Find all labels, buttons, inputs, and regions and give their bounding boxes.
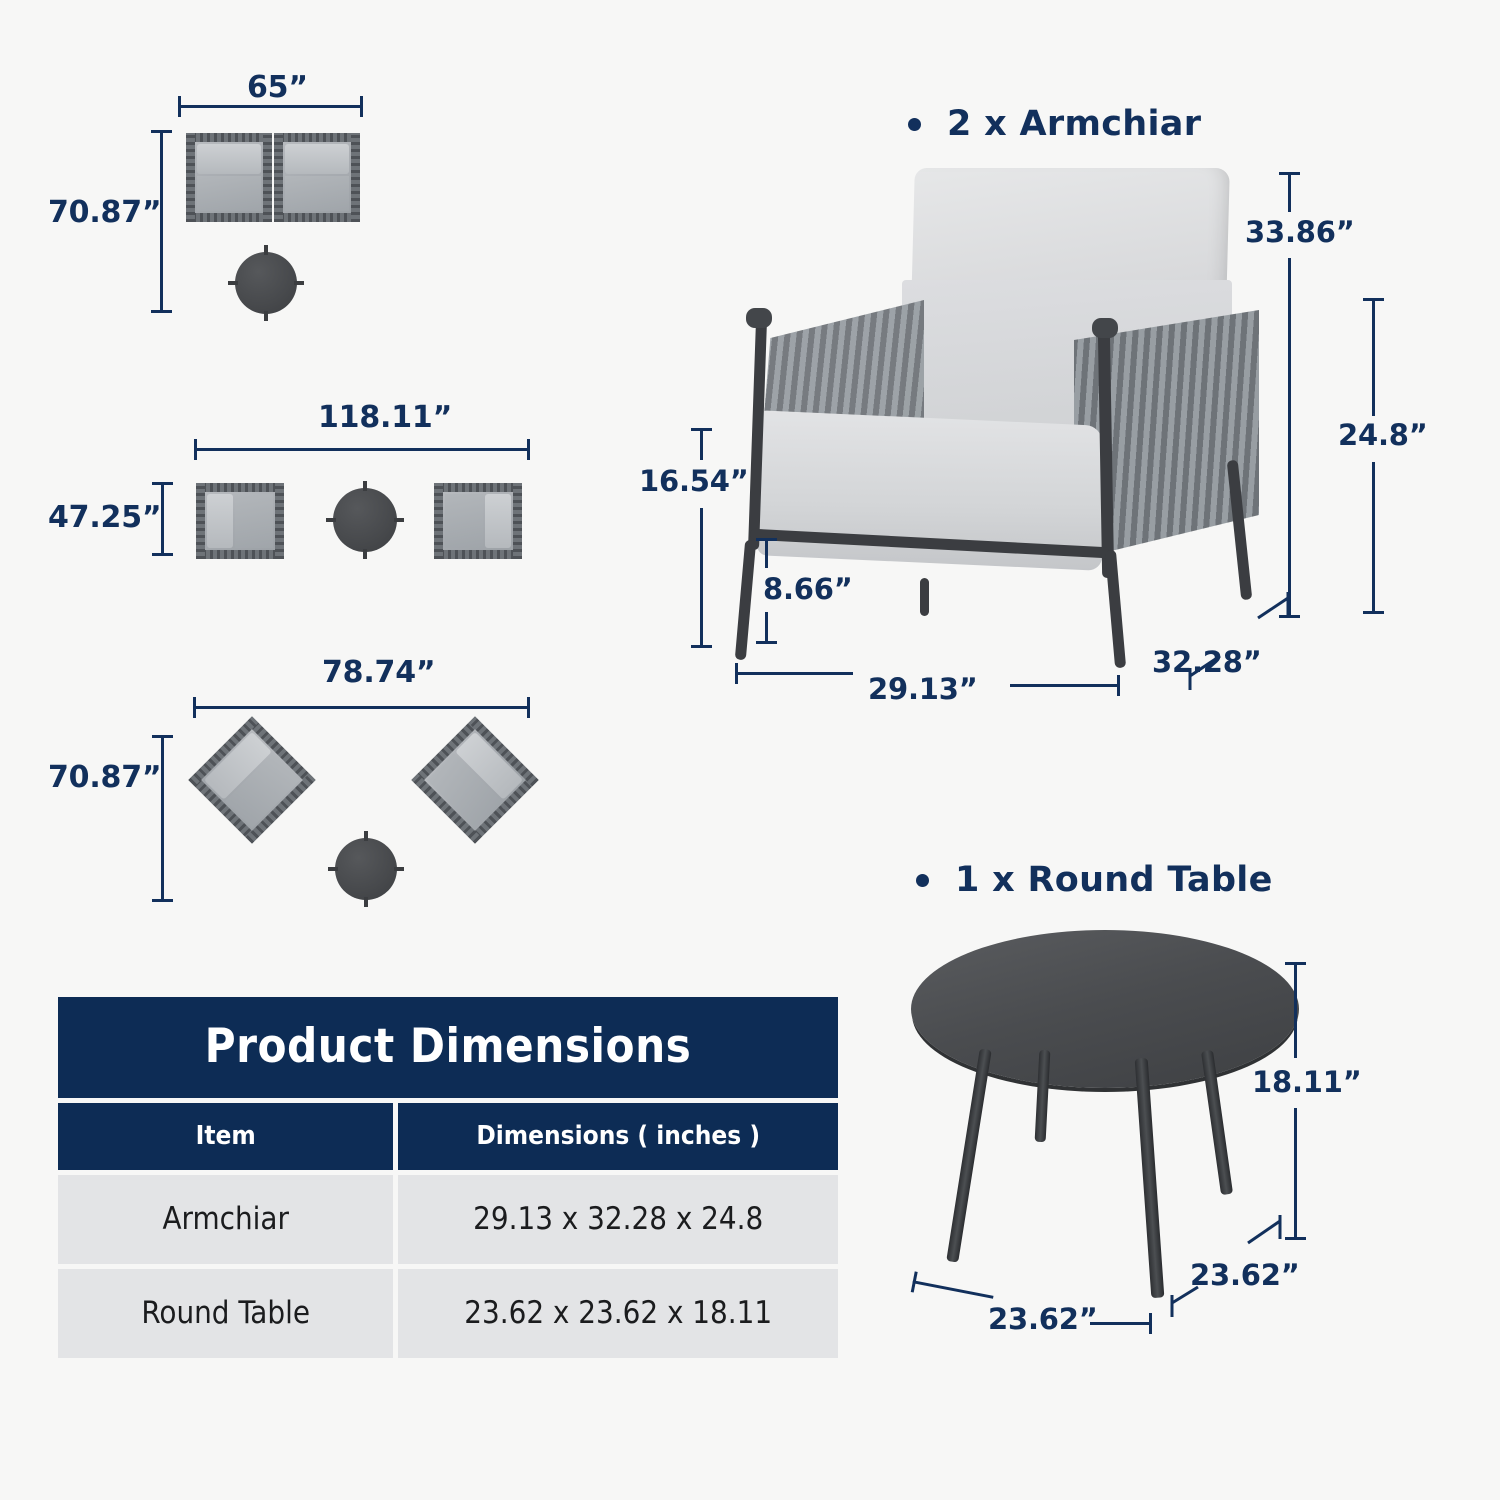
armchair-seat-height-line-bottom	[700, 508, 703, 648]
round-table-leg-front-left	[946, 1048, 991, 1262]
round-table-width-label: 23.62”	[988, 1302, 1098, 1336]
armchair-arm-height-line-top	[1372, 298, 1375, 416]
cell-item-name: Armchiar	[58, 1175, 393, 1264]
chair-rope-bottom	[434, 550, 522, 559]
armchair-arm-cap-right	[1092, 318, 1118, 338]
chair-back-cushion	[285, 144, 349, 174]
table-leg-bottom	[264, 311, 268, 321]
cell-item-name: Round Table	[58, 1269, 393, 1358]
chair-seat	[445, 494, 483, 548]
layout3-width-line	[193, 706, 530, 709]
table-row: Round Table 23.62 x 23.62 x 18.11	[58, 1269, 838, 1358]
table-leg-left	[326, 518, 336, 522]
chair-rope-right	[351, 133, 360, 222]
layout3-depth-line	[161, 735, 164, 902]
round-table-height-line-top	[1294, 962, 1297, 1058]
table-leg-top	[363, 481, 367, 491]
table-title: Product Dimensions	[58, 997, 838, 1098]
table-top	[235, 252, 297, 314]
armchair-width-label: 29.13”	[868, 672, 978, 706]
chair-rope-bottom	[196, 550, 284, 559]
layout3-chair-left	[188, 716, 315, 843]
layout1-table	[235, 252, 297, 314]
armchair-arm-height-line-bottom	[1372, 462, 1375, 614]
round-table-section-heading: 1 x Round Table	[916, 860, 1273, 900]
table-top	[333, 488, 397, 552]
layout3-depth-label: 70.87”	[48, 760, 161, 795]
chair-seat	[197, 176, 261, 211]
chair-back-cushion	[207, 494, 233, 548]
layout1-depth-line	[160, 130, 163, 313]
chair-back-cushion	[485, 494, 511, 548]
layout1-width-line	[178, 105, 363, 108]
armchair-arm-cap-left	[746, 308, 772, 328]
layout2-chair-left	[196, 483, 284, 559]
layout2-width-line	[194, 448, 530, 451]
table-leg-right	[394, 867, 404, 871]
chair-rope-top	[196, 483, 284, 492]
chair-rope-top	[274, 133, 360, 142]
chair-rope-right	[513, 483, 522, 559]
table-row: Armchiar 29.13 x 32.28 x 24.8	[58, 1175, 838, 1264]
chair-rope-bottom	[274, 213, 360, 222]
chair-rope-bottom	[186, 213, 272, 222]
layout1-chair-right	[274, 133, 360, 222]
layout2-depth-line	[161, 482, 164, 556]
column-header-dimensions: Dimensions ( inches )	[398, 1103, 838, 1170]
armchair-clearance-label: 8.66”	[763, 572, 853, 606]
chair-back-cushion	[197, 144, 261, 174]
round-table-height-label: 18.11”	[1252, 1065, 1362, 1099]
round-table-heading-label: 1 x Round Table	[955, 860, 1273, 900]
armchair-leg-center	[920, 578, 929, 616]
chair-rope-top	[186, 133, 272, 142]
layout2-chair-right	[434, 483, 522, 559]
cell-item-dimensions: 23.62 x 23.62 x 18.11	[398, 1269, 838, 1358]
table-leg-right	[394, 518, 404, 522]
column-header-item: Item	[58, 1103, 393, 1170]
table-leg-left	[228, 281, 238, 285]
chair-rope-left	[434, 483, 443, 559]
armchair-section-heading: 2 x Armchiar	[908, 104, 1201, 144]
table-leg-bottom	[364, 897, 368, 907]
table-leg-right	[294, 281, 304, 285]
armchair-back-height-line-bottom	[1288, 258, 1291, 618]
layout3-width-label: 78.74”	[322, 655, 435, 690]
table-leg-bottom	[363, 549, 367, 559]
chair-seat	[285, 176, 349, 211]
table-header-row: Item Dimensions ( inches )	[58, 1103, 838, 1170]
armchair-arm-height-label: 24.8”	[1338, 418, 1428, 452]
bullet-icon	[916, 874, 929, 887]
armchair-clearance-line-bottom	[765, 612, 768, 644]
layout2-width-label: 118.11”	[318, 400, 452, 435]
table-top	[335, 838, 397, 900]
round-table-depth-leader-lines	[1130, 1215, 1330, 1345]
cell-item-dimensions: 29.13 x 32.28 x 24.8	[398, 1175, 838, 1264]
armchair-clearance-line-top	[765, 538, 768, 568]
chair-rope-right	[263, 133, 272, 222]
table-leg-top	[264, 245, 268, 255]
chair-seat	[235, 494, 273, 548]
layout2-depth-label: 47.25”	[48, 500, 161, 535]
armchair-depth-leader-lines	[1130, 590, 1330, 710]
layout1-chair-left	[186, 133, 272, 222]
armchair-leg-front-left	[735, 540, 756, 661]
layout1-width-label: 65”	[247, 70, 308, 105]
chair-rope-left	[274, 133, 283, 222]
layout3-table	[335, 838, 397, 900]
chair-rope-left	[186, 133, 195, 222]
armchair-width-line-right	[1010, 684, 1120, 687]
armchair-seat-height-label: 16.54”	[639, 464, 749, 498]
armchair-leg-front-right	[1105, 550, 1126, 669]
chair-rope-right	[275, 483, 284, 559]
table-leg-left	[328, 867, 338, 871]
chair-rope-top	[434, 483, 522, 492]
armchair-seat-height-line-top	[700, 428, 703, 460]
infographic-canvas: 65” 70.87”	[0, 0, 1500, 1500]
round-table-top	[911, 930, 1299, 1088]
layout3-chair-right	[411, 716, 538, 843]
chair-rope-left	[196, 483, 205, 559]
armchair-width-line-left	[735, 672, 853, 675]
table-leg-top	[364, 831, 368, 841]
layout1-depth-label: 70.87”	[48, 195, 161, 230]
bullet-icon	[908, 118, 921, 131]
armchair-back-height-line-top	[1288, 172, 1291, 212]
layout2-table	[333, 488, 397, 552]
product-dimensions-table: Product Dimensions Item Dimensions ( inc…	[58, 997, 838, 1358]
armchair-heading-label: 2 x Armchiar	[947, 104, 1201, 144]
armchair-back-height-label: 33.86”	[1245, 215, 1355, 249]
